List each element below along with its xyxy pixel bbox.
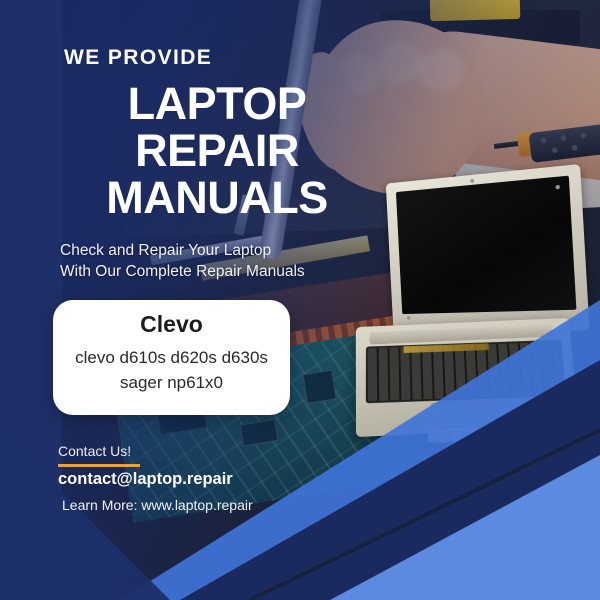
contact-email[interactable]: contact@laptop.repair <box>58 470 233 489</box>
page-title: LAPTOP REPAIR MANUALS <box>62 80 372 221</box>
learn-more-link[interactable]: Learn More: www.laptop.repair <box>62 497 253 513</box>
contact-underline-accent <box>58 464 140 467</box>
card-model-line-1: clevo d610s d620s d630s <box>61 345 282 370</box>
card-model-line-2: sager np61x0 <box>61 370 282 395</box>
subheading-line-2: With Our Complete Repair Manuals <box>60 261 305 282</box>
poster-content: WE PROVIDE LAPTOP REPAIR MANUALS Check a… <box>0 0 600 600</box>
subheading-line-1: Check and Repair Your Laptop <box>60 240 305 261</box>
contact-label: Contact Us! <box>58 443 131 459</box>
subheading: Check and Repair Your Laptop With Our Co… <box>60 240 305 282</box>
card-brand-title: Clevo <box>53 311 290 338</box>
eyebrow-text: WE PROVIDE <box>64 46 212 70</box>
card-model-list: clevo d610s d620s d630s sager np61x0 <box>61 345 282 395</box>
model-card: Clevo clevo d610s d620s d630s sager np61… <box>53 300 290 415</box>
promo-poster: WE PROVIDE LAPTOP REPAIR MANUALS Check a… <box>0 0 600 600</box>
